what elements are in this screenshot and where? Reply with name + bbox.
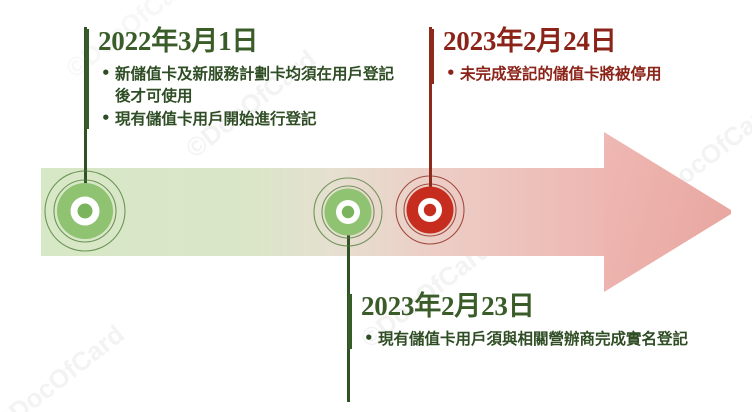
timeline-marker-event-2[interactable] bbox=[388, 168, 472, 252]
bullet-glyph: • bbox=[101, 108, 111, 129]
bullet-glyph: • bbox=[101, 63, 111, 84]
list-item: • 現有儲值卡用戶須與相關營辦商完成實名登記 bbox=[361, 328, 696, 350]
list-item: • 未完成登記的儲值卡將被停用 bbox=[443, 63, 693, 85]
watermark: ©DocOfCard bbox=[0, 319, 130, 412]
bullet-glyph: • bbox=[364, 328, 374, 349]
timeline-marker-event-1[interactable] bbox=[35, 161, 135, 261]
event-bullet-list: • 現有儲值卡用戶須與相關營辦商完成實名登記 bbox=[361, 328, 696, 350]
timeline-infographic: ©DocOfCard ©DocOfCard ©DocOfCard ©DocOfC… bbox=[0, 0, 752, 412]
list-item: • 新儲值卡及新服務計劃卡均須在用戶登記後才可使用 bbox=[98, 63, 398, 107]
bullet-glyph: • bbox=[446, 63, 456, 84]
list-item-text: 新儲值卡及新服務計劃卡均須在用戶登記後才可使用 bbox=[115, 65, 394, 105]
list-item: • 現有儲值卡用戶開始進行登記 bbox=[98, 108, 398, 130]
callout-rule bbox=[430, 29, 434, 84]
callout-rule bbox=[85, 29, 89, 129]
event-date-label: 2023年2月24日 bbox=[443, 27, 693, 57]
list-item-text: 現有儲值卡用戶開始進行登記 bbox=[115, 110, 317, 128]
callout-rule bbox=[348, 294, 352, 349]
event-callout-2023-02-23: 2023年2月23日 • 現有儲值卡用戶須與相關營辦商完成實名登記 bbox=[348, 292, 696, 351]
list-item-text: 未完成登記的儲值卡將被停用 bbox=[460, 65, 662, 83]
event-date-label: 2023年2月23日 bbox=[361, 292, 696, 322]
timeline-marker-event-3[interactable] bbox=[306, 170, 390, 254]
event-bullet-list: • 未完成登記的儲值卡將被停用 bbox=[443, 63, 693, 85]
event-date-label: 2022年3月1日 bbox=[98, 27, 398, 57]
list-item-text: 現有儲值卡用戶須與相關營辦商完成實名登記 bbox=[378, 330, 688, 348]
event-callout-2023-02-24: 2023年2月24日 • 未完成登記的儲值卡將被停用 bbox=[430, 27, 693, 86]
event-callout-2022-03-01: 2022年3月1日 • 新儲值卡及新服務計劃卡均須在用戶登記後才可使用 • 現有… bbox=[85, 27, 398, 131]
event-bullet-list: • 新儲值卡及新服務計劃卡均須在用戶登記後才可使用 • 現有儲值卡用戶開始進行登… bbox=[98, 63, 398, 130]
